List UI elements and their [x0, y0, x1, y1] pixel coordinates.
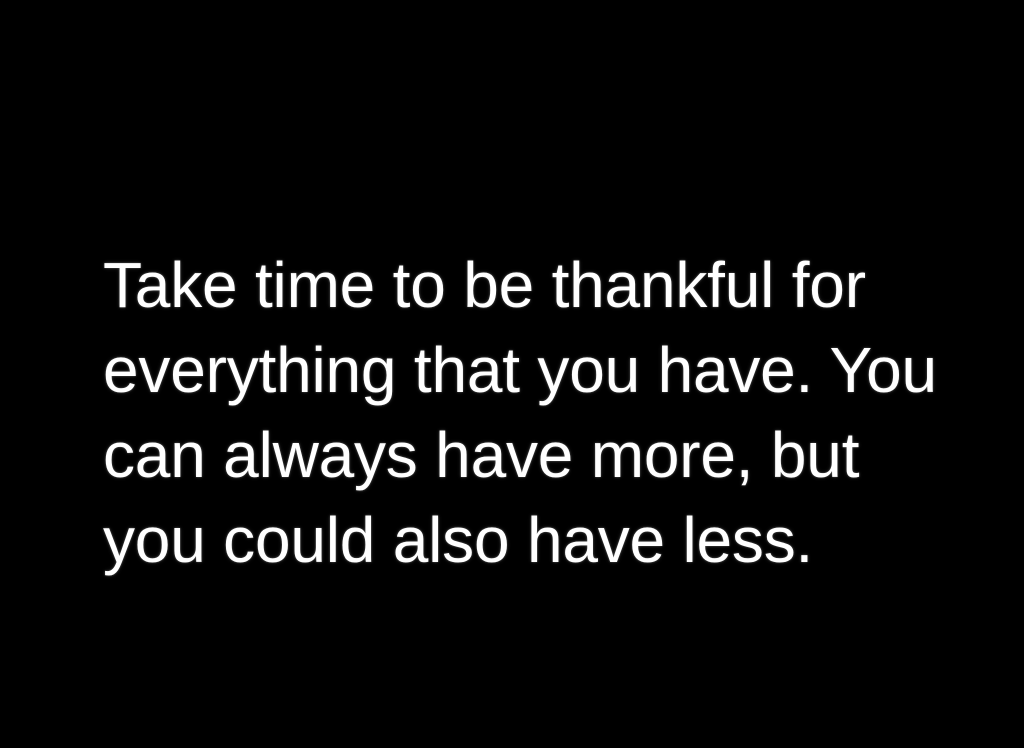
quote-line-1: Take time to be thankful for	[103, 243, 953, 328]
quote-text-block: Take time to be thankful for everything …	[103, 243, 953, 583]
quote-image-canvas: Take time to be thankful for everything …	[0, 0, 1024, 748]
quote-line-2: everything that you have. You	[103, 328, 953, 413]
quote-line-4: you could also have less.	[103, 498, 953, 583]
quote-line-3: can always have more, but	[103, 413, 953, 498]
